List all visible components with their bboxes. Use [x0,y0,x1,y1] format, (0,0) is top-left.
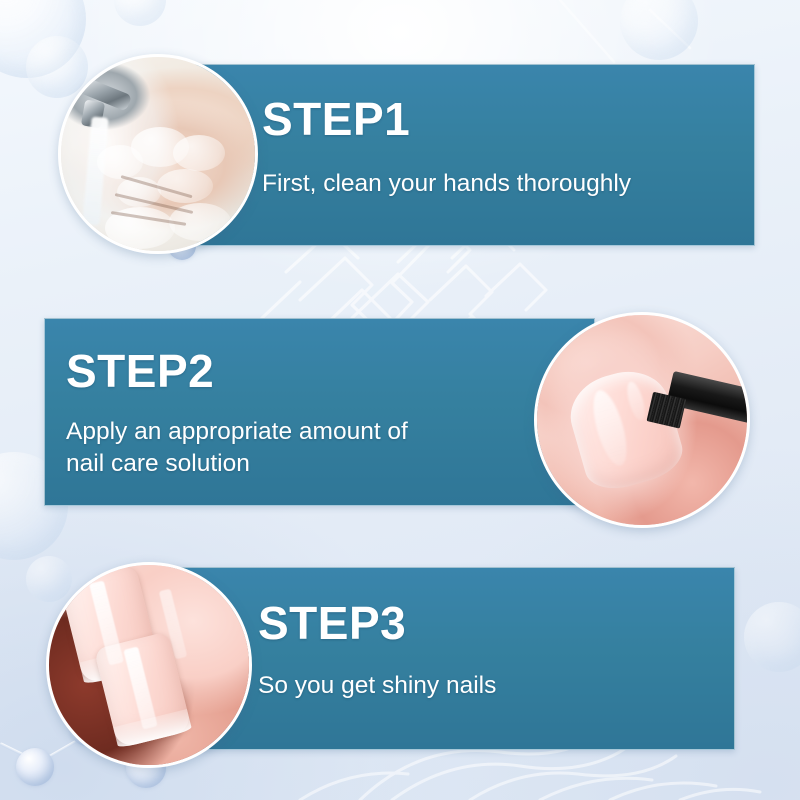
step-3-bar [170,567,735,750]
step-3-title: STEP3 [258,600,406,646]
step-3-description: So you get shiny nails [258,670,718,702]
infographic-canvas: STEP1 First, clean your hands thoroughly [0,0,800,800]
step-3-row: STEP3 So you get shiny nails [0,0,800,800]
step-3-photo-image [49,565,249,765]
step-3-photo [46,562,252,768]
